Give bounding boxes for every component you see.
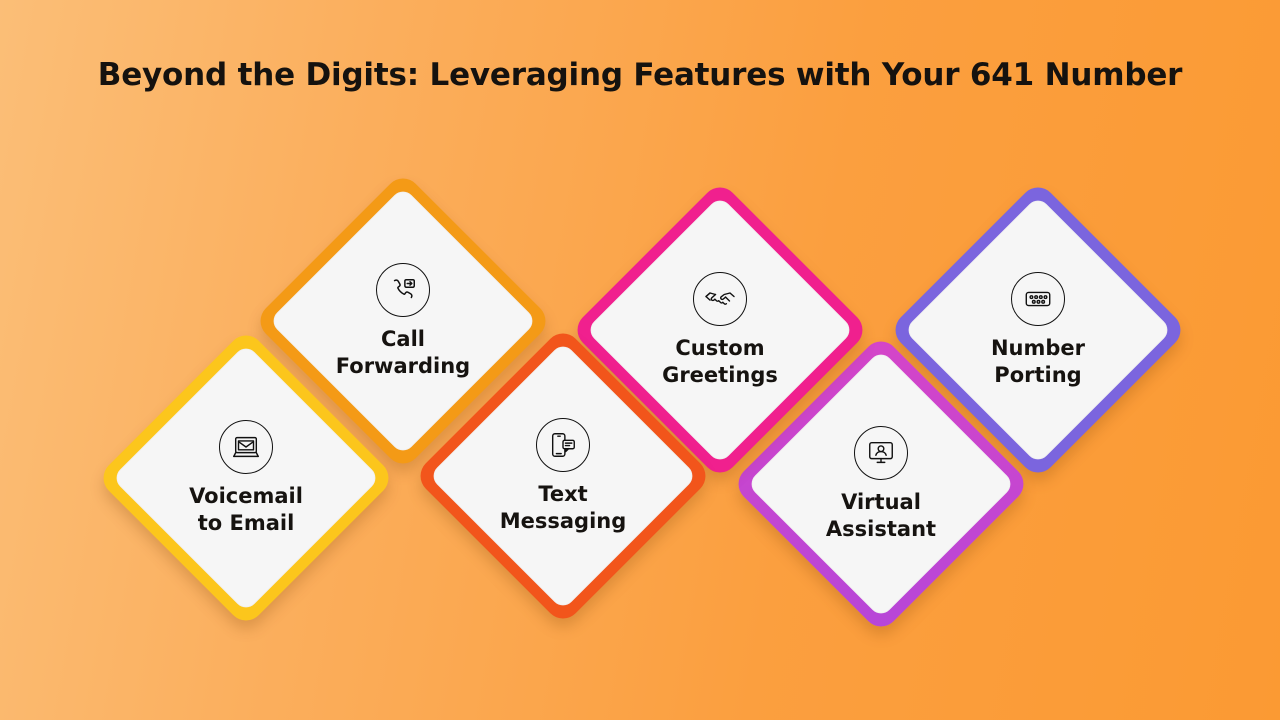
infographic-canvas: Beyond the Digits: Leveraging Features w… — [0, 0, 1280, 720]
feature-diamond-group: Voicemail to Email Call Forwarding — [0, 0, 1280, 720]
